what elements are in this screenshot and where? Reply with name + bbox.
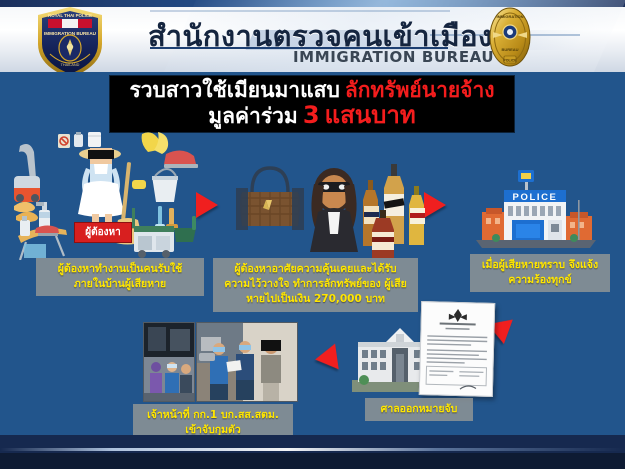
- arrest-photo-left: [143, 322, 195, 402]
- headline-line2-number: 3: [303, 101, 320, 129]
- arrest-warrant-document: [419, 301, 495, 397]
- svg-text:BUREAU: BUREAU: [501, 47, 518, 52]
- infographic-poster: ROYAL THAI POLICE IMMIGRATION BUREAU THA…: [0, 0, 625, 469]
- stolen-goods-group: [228, 142, 428, 260]
- footer-dark-strip: [0, 453, 625, 469]
- footer-bar: [0, 435, 625, 469]
- header-accent-line-1: [150, 10, 450, 12]
- gold-police-badge-icon: IMMIGRATION BUREAU POLICE: [483, 4, 537, 70]
- caption-victim-report: เมื่อผู้เสียหายทราบ จึงแจ้งความร้องทุกข์: [470, 254, 610, 292]
- headline-line1-red: ลักทรัพย์นายจ้าง: [345, 78, 495, 102]
- svg-text:IMMIGRATION: IMMIGRATION: [496, 14, 523, 19]
- rubber-gloves-icon: [142, 132, 169, 154]
- svg-text:ROYAL THAI POLICE: ROYAL THAI POLICE: [48, 13, 92, 18]
- headline-line-2: มูลค่าร่วม 3 แสนบาท: [208, 102, 415, 129]
- headline-line1-white: รวบสาวใช้เมียนมาแสบ: [129, 78, 339, 102]
- red-arrow-left-2-icon: [313, 344, 338, 373]
- dustpan-icon: [174, 216, 196, 242]
- header-bar: ROYAL THAI POLICE IMMIGRATION BUREAU THA…: [0, 0, 625, 72]
- cleaning-cart-icon: [132, 208, 174, 258]
- suspect-figure: [261, 340, 281, 401]
- red-arrow-right-1-icon: [196, 192, 218, 218]
- masked-thief-icon: [310, 168, 358, 252]
- caption-court-warrant: ศาลออกหมายจับ: [365, 398, 473, 421]
- iron-icon: [35, 226, 59, 237]
- arrest-photo-right: [196, 322, 298, 402]
- liquor-bottles-icon: [363, 164, 425, 258]
- sponge-icon: [132, 180, 146, 189]
- headline-banner: รวบสาวใช้เมียนมาแสบ ลักทรัพย์นายจ้าง มูล…: [110, 76, 514, 132]
- footer-glow-line: [0, 448, 625, 451]
- svg-text:POLICE: POLICE: [513, 192, 558, 203]
- headline-line-1: รวบสาวใช้เมียนมาแสบ ลักทรัพย์นายจ้าง: [129, 79, 494, 103]
- paper-towel-icon: [88, 132, 101, 147]
- steam-iron-icon: [164, 150, 198, 168]
- headline-line2-white: มูลค่าร่วม: [208, 104, 297, 128]
- caption-suspect-employment: ผู้ต้องหาทำงานเป็นคนรับใช้ ภายในบ้านผู้เ…: [36, 258, 204, 296]
- detergent-bottle-icon: [74, 132, 83, 147]
- headline-line2-red: แสนบาท: [325, 101, 416, 129]
- bucket-icon: [152, 169, 178, 202]
- designer-handbag-icon: [236, 168, 304, 230]
- header-bottom-stripe: [0, 62, 625, 72]
- caption-theft-details: ผู้ต้องหาอาศัยความคุ้นเคยและได้รับ ความไ…: [213, 258, 418, 312]
- suspect-label-badge: ผู้ต้องหา: [74, 222, 132, 243]
- wet-floor-sign-icon: [58, 134, 70, 148]
- vacuum-cleaner-icon: [14, 144, 40, 202]
- police-station-illustration: POLICE: [466, 160, 606, 252]
